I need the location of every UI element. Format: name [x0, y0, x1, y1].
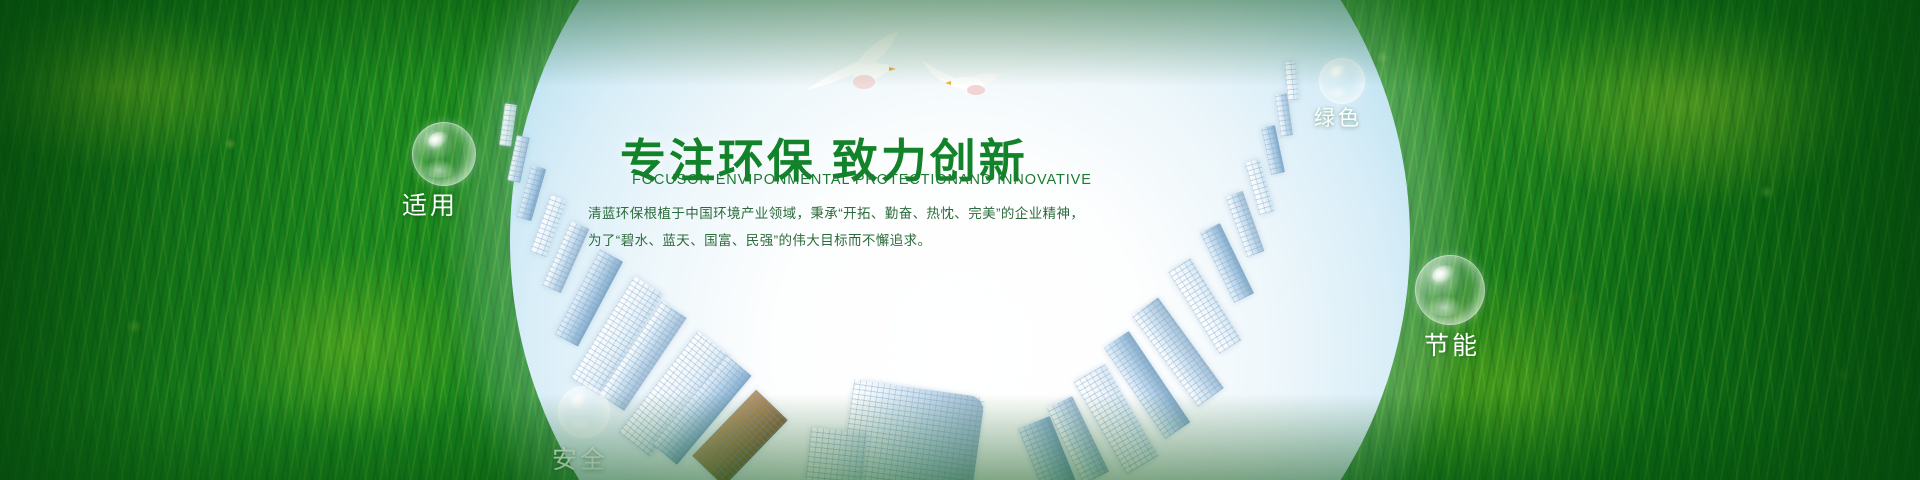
hero-banner: 专注环保 致力创新 FOCUSON ENVIPONMENTAL PROTECTI…	[0, 0, 1920, 480]
edge-vignette	[0, 0, 1920, 480]
